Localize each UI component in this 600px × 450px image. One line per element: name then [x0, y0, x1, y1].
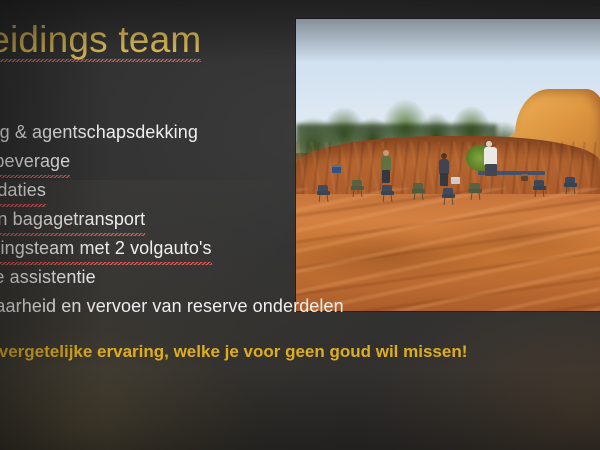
bullet-line: eleidingsteam met 2 volgauto's [0, 234, 460, 263]
presentation-slide: eleidings team rijving & agentschapsdekk… [0, 0, 600, 450]
slide-closing-statement: onvergetelijke ervaring, welke je voor g… [0, 340, 560, 364]
bullet-line: omodaties [0, 176, 460, 205]
bullet-text: hikbaarheid en vervoer van reserve onder… [0, 292, 344, 321]
bullet-text: ische assistentie [0, 263, 96, 292]
bullet-text: rijving & agentschapsdekking [0, 118, 198, 147]
slide-title-text: eleidings team [0, 19, 201, 62]
bullet-text: en en bagagetransport [0, 205, 145, 236]
bullet-text: d & beverage [0, 147, 70, 178]
photo-barrel [521, 174, 528, 181]
bullet-line: ische assistentie [0, 263, 460, 292]
closing-text: onvergetelijke ervaring, welke je voor g… [0, 340, 467, 364]
photo-chair [469, 183, 482, 200]
bullet-line: hikbaarheid en vervoer van reserve onder… [0, 292, 460, 321]
bullet-line: rijving & agentschapsdekking [0, 118, 460, 147]
bullet-text: eleidingsteam met 2 volgauto's [0, 234, 212, 265]
bullet-line: en en bagagetransport [0, 205, 460, 234]
photo-chair [533, 180, 546, 197]
slide-body: rijving & agentschapsdekking d & beverag… [0, 118, 460, 321]
slide-title: eleidings team [0, 18, 300, 62]
bullet-line: d & beverage [0, 147, 460, 176]
bullet-text: omodaties [0, 176, 46, 207]
photo-chair [564, 177, 577, 194]
